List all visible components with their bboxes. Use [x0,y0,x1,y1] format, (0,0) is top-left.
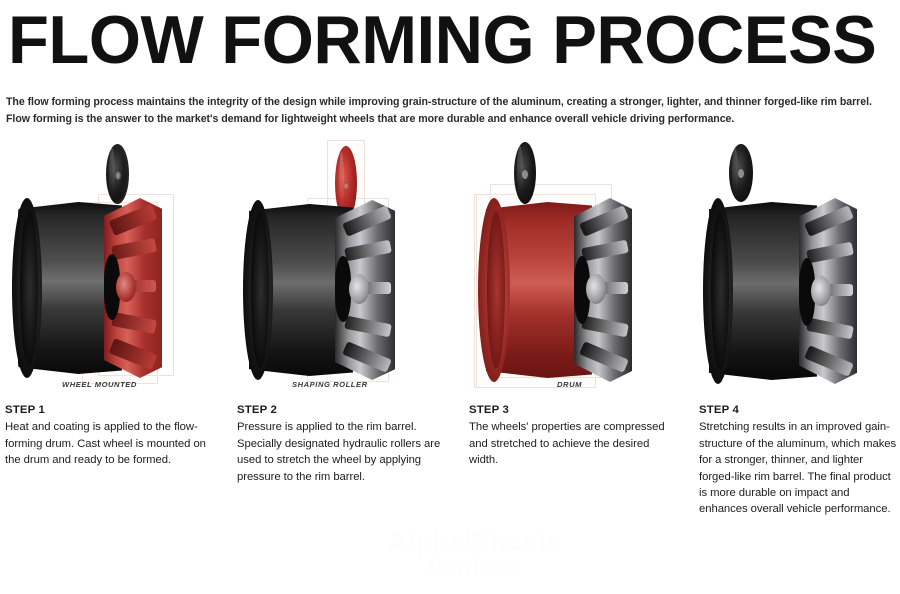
barrel-inner-lip-3 [487,212,505,368]
intro-paragraph: The flow forming process maintains the i… [6,94,894,128]
step-text-2: STEP 2 Pressure is applied to the rim ba… [237,402,442,485]
wheel-assembly-2 [243,200,395,380]
roller-hub-4 [738,169,744,178]
wheel-face-4 [799,198,857,384]
wheel-assembly-4 [703,198,857,384]
wheel-hub-3 [586,274,606,304]
wheel-hub-1 [116,272,136,302]
roller-disc-1 [106,144,129,204]
barrel-inner-lip-4 [711,212,729,370]
wheel-hub-2 [349,274,369,304]
step-card-1: WHEEL MOUNTED STEP 1 Heat and coating is… [0,136,231,594]
illustration-caption-2: SHAPING ROLLER [292,380,368,389]
wheel-face-2 [335,200,395,380]
step-heading-4: STEP 4 [699,402,899,418]
wheel-hub-4 [811,276,831,306]
roller-disc-3 [514,142,536,204]
step-illustration-3 [462,136,693,388]
poster-root: FLOW FORMING PROCESS The flow forming pr… [0,0,900,594]
barrel-inner-lip-1 [20,210,38,366]
barrel-inner-lip-2 [251,212,269,368]
step-text-4: STEP 4 Stretching results in an improved… [699,402,899,518]
roller-highlight-1 [109,148,115,200]
illustration-caption-3: DRUM [557,380,582,389]
step-illustration-2 [231,136,462,388]
roller-hub-1 [115,171,121,180]
wheel-face-1 [104,198,162,378]
page-title: FLOW FORMING PROCESS [8,6,879,74]
step-illustration-4 [693,136,900,388]
step-heading-1: STEP 1 [5,402,210,418]
step-heading-3: STEP 3 [469,402,674,418]
step-card-4: STEP 4 Stretching results in an improved… [693,136,900,594]
wheel-assembly-1 [12,198,162,378]
illustration-caption-1: WHEEL MOUNTED [62,380,137,389]
roller-highlight-4 [732,148,738,198]
watermark-line-1: AlphaWheels [388,526,562,556]
wireframe-edge-3a [474,194,477,388]
roller-disc-4 [729,144,753,202]
step-heading-2: STEP 2 [237,402,442,418]
step-body-3: The wheels' properties are compressed an… [469,419,674,468]
watermark-line-2: flowform [330,554,620,580]
step-text-3: STEP 3 The wheels' properties are compre… [469,402,674,469]
step-text-1: STEP 1 Heat and coating is applied to th… [5,402,210,469]
roller-highlight-3 [517,146,523,200]
watermark: AlphaWheels flowform [330,528,620,580]
step-illustration-1 [0,136,231,388]
wheel-face-3 [574,198,632,382]
wheel-assembly-3 [478,198,630,382]
step-body-4: Stretching results in an improved gain-s… [699,419,899,517]
step-body-2: Pressure is applied to the rim barrel. S… [237,419,442,485]
step-body-1: Heat and coating is applied to the flow-… [5,419,210,468]
